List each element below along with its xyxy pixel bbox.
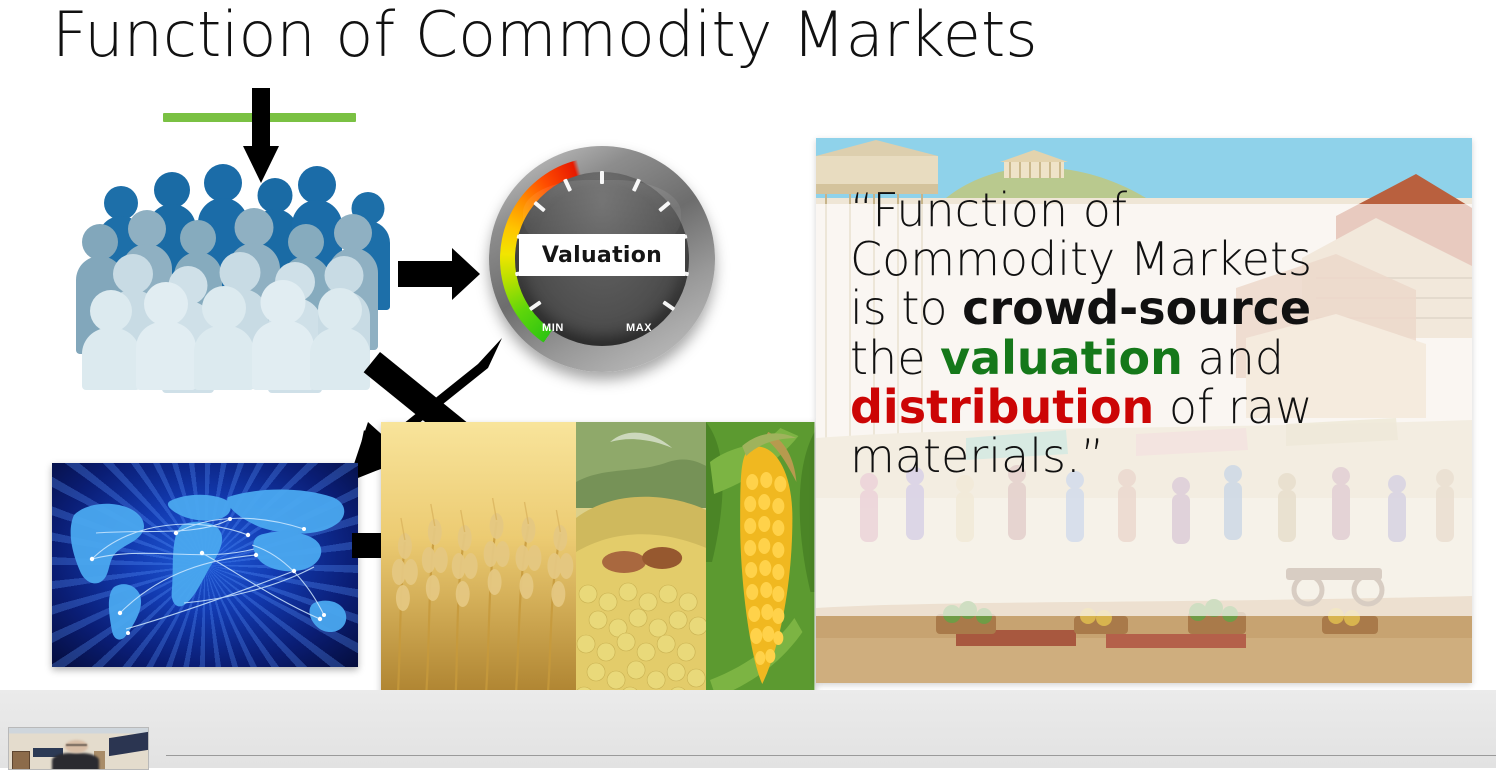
global-network-world-map [52,463,358,667]
quote-line-4-plain-b: and [1183,331,1284,385]
gauge-min-label: MIN [542,322,564,334]
quote-emphasis-valuation: valuation [940,331,1183,385]
quote-line-3-plain: is to [850,281,962,335]
gauge-max-label: MAX [626,322,652,334]
commodity-panel-soybeans [576,422,706,712]
quote-text: “Function of Commodity Markets is to cro… [850,186,1450,481]
gauge-center-label: Valuation [542,243,662,268]
quote-card: “Function of Commodity Markets is to cro… [816,138,1472,683]
slide-canvas: Function of Commodity Markets [0,0,1496,768]
quote-line-4-plain-a: the [850,331,940,385]
quote-emphasis-crowd-source: crowd-source [962,281,1311,335]
commodity-photo-triptych [381,422,815,712]
quote-line-5-plain: of raw [1154,380,1312,434]
commodity-panel-corn [706,422,815,712]
self-view-webcam-thumbnail[interactable] [8,727,149,770]
gauge-center-label-box: Valuation [519,234,685,276]
quote-open-mark: “ [850,183,872,237]
commodity-panel-wheat [381,422,576,712]
bottom-divider-line [166,755,1496,756]
quote-line-2: Commodity Markets [850,235,1450,284]
arrow-right-icon-crowd-to-gauge [398,248,482,300]
valuation-gauge: Valuation MIN MAX [489,146,715,372]
quote-emphasis-distribution: distribution [850,380,1154,434]
map-continents [52,463,358,667]
conference-bottom-bar [0,690,1496,768]
quote-line-6: materials.” [850,432,1450,481]
page-title: Function of Commodity Markets [52,0,1038,71]
quote-line-1: Function of [872,183,1127,237]
